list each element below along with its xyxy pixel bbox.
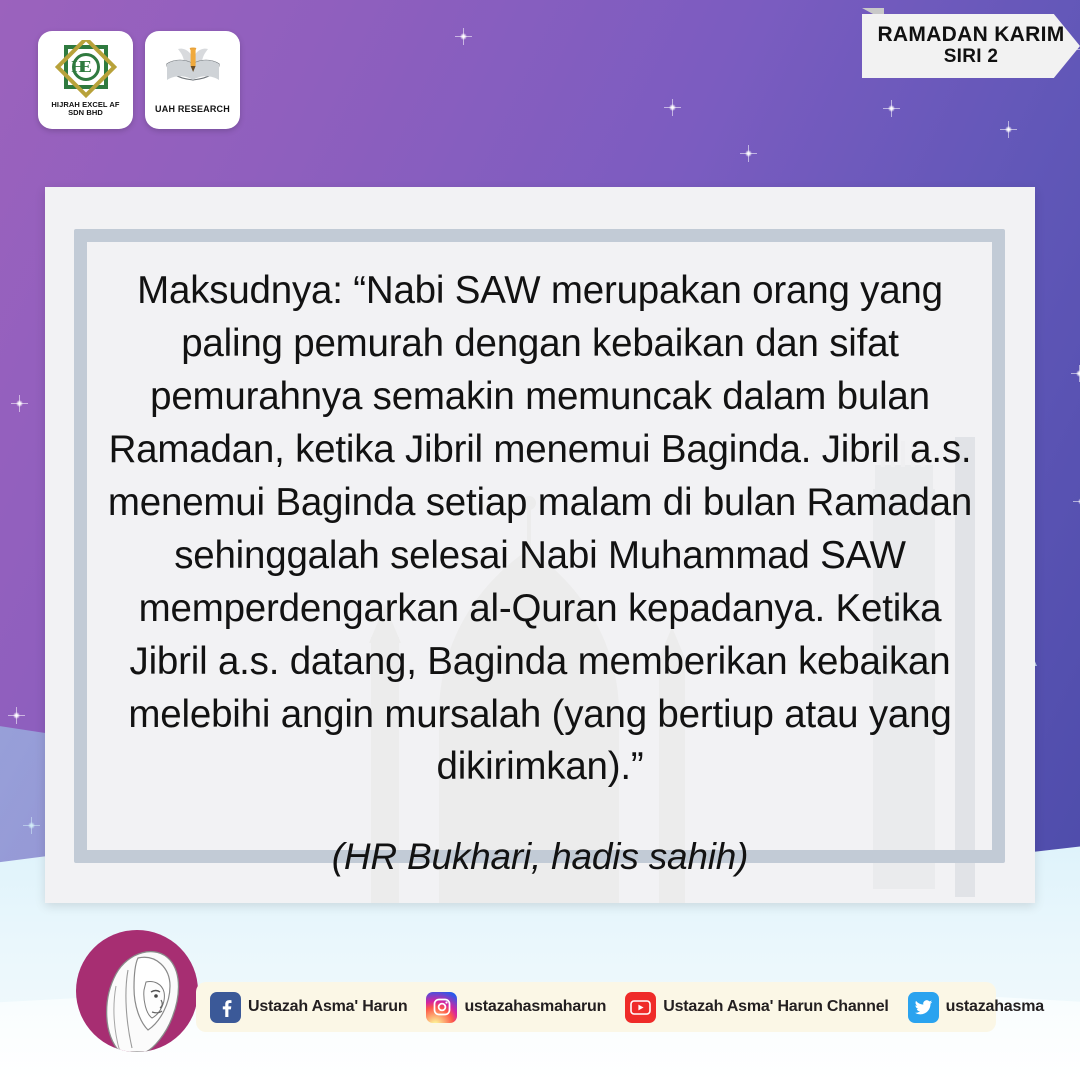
hijab-portrait-icon [76, 930, 198, 1052]
hijrah-excel-caption: HIJRAH EXCEL AF SDN BHD [51, 101, 119, 118]
sparkle-icon [16, 400, 23, 407]
facebook-handle: Ustazah Asma' Harun [248, 998, 407, 1016]
social-links-bar: Ustazah Asma' Harun ustazahasmaharun Ust… [196, 982, 996, 1032]
sparkle-icon [669, 104, 676, 111]
hijrah-excel-caption-line2: SDN BHD [68, 108, 103, 117]
social-link-facebook[interactable]: Ustazah Asma' Harun [210, 992, 407, 1023]
quote-source: (HR Bukhari, hadis sahih) [105, 836, 975, 878]
twitter-handle: ustazahasma [946, 998, 1044, 1016]
sparkle-icon [1005, 126, 1012, 133]
sparkle-icon [888, 105, 895, 112]
instagram-handle: ustazahasmaharun [464, 998, 606, 1016]
brand-logo-row: E H HIJRAH EXCEL AF SDN BHD UAH [38, 31, 240, 129]
instagram-icon[interactable] [426, 992, 457, 1023]
uah-research-logo: UAH RESEARCH [145, 31, 240, 129]
uah-research-caption: UAH RESEARCH [155, 104, 230, 114]
svg-text:H: H [71, 57, 84, 76]
series-badge-line2: SIRI 2 [944, 46, 999, 68]
hijrah-excel-af-logo: E H HIJRAH EXCEL AF SDN BHD [38, 31, 133, 129]
quote-text: Maksudnya: “Nabi SAW merupakan orang yan… [105, 265, 975, 794]
series-badge: RAMADAN KARIM SIRI 2 [862, 14, 1080, 78]
social-link-twitter[interactable]: ustazahasma [908, 992, 1044, 1023]
sparkle-icon [460, 33, 467, 40]
quote-card: Maksudnya: “Nabi SAW merupakan orang yan… [45, 187, 1035, 903]
twitter-icon[interactable] [908, 992, 939, 1023]
youtube-icon[interactable] [625, 992, 656, 1023]
series-badge-line1: RAMADAN KARIM [877, 24, 1064, 46]
sparkle-icon [745, 150, 752, 157]
sparkle-icon [28, 822, 35, 829]
sparkle-icon [1076, 370, 1080, 377]
social-link-instagram[interactable]: ustazahasmaharun [426, 992, 606, 1023]
sparkle-icon [13, 712, 20, 719]
ramadan-quote-poster: E H HIJRAH EXCEL AF SDN BHD UAH [0, 0, 1080, 1080]
social-link-youtube[interactable]: Ustazah Asma' Harun Channel [625, 992, 888, 1023]
youtube-handle: Ustazah Asma' Harun Channel [663, 998, 888, 1016]
octagram-monogram-icon: E H [55, 40, 117, 98]
facebook-icon[interactable] [210, 992, 241, 1023]
open-book-pencil-icon [162, 40, 224, 98]
avatar [76, 930, 198, 1052]
quote-card-body: Maksudnya: “Nabi SAW merupakan orang yan… [105, 265, 975, 878]
